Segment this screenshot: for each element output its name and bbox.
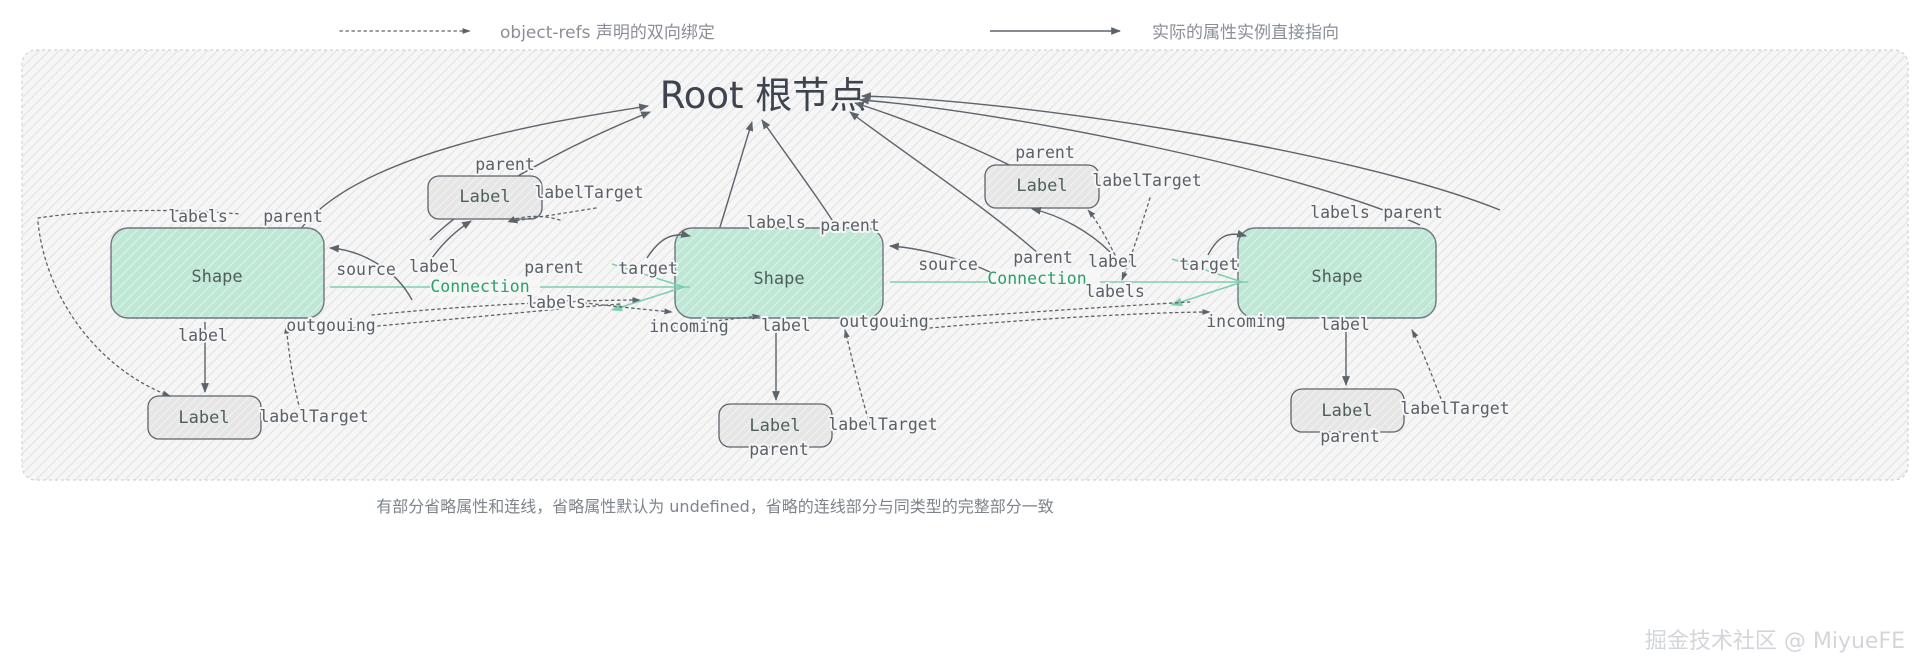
edge-label: labelTargetlabelTarget bbox=[1400, 399, 1509, 418]
node-label-top-right[interactable]: Label bbox=[985, 165, 1099, 208]
edge-label-text: parent bbox=[749, 440, 809, 459]
edge-label: parentparent bbox=[1320, 427, 1380, 446]
edge-label-text: labelTarget bbox=[259, 407, 368, 426]
edge-label-text: label bbox=[178, 326, 228, 345]
edge-label-text: incoming bbox=[1206, 312, 1285, 331]
node-shape-mid[interactable]: Shape bbox=[675, 228, 883, 318]
edge-label: parentparent bbox=[1013, 248, 1073, 267]
edge-label-text: parent bbox=[1013, 248, 1073, 267]
connection-right-name: Connection bbox=[987, 269, 1086, 288]
legend-dotted-label: object-refs 声明的双向绑定 bbox=[500, 23, 715, 43]
diagram-canvas: object-refs 声明的双向绑定 实际的属性实例直接指向 Root 根节点… bbox=[0, 0, 1930, 667]
edge-label: parentparent bbox=[475, 155, 535, 174]
label-bottom-left-text: Label bbox=[178, 408, 229, 428]
object-model-diagram: object-refs 声明的双向绑定 实际的属性实例直接指向 Root 根节点… bbox=[0, 0, 1930, 667]
edge-label-text: parent bbox=[1015, 143, 1075, 162]
node-shape-right[interactable]: Shape bbox=[1238, 228, 1436, 318]
edge-label: targettarget bbox=[1179, 255, 1239, 274]
edge-label: parentparent bbox=[1383, 203, 1443, 222]
edge-label: parentparent bbox=[1015, 143, 1075, 162]
edge-label-text: parent bbox=[1383, 203, 1443, 222]
edge-label-text: label bbox=[1320, 315, 1370, 334]
edge-label-text: labelTarget bbox=[534, 183, 643, 202]
edge-label: labelTargetlabelTarget bbox=[828, 415, 937, 434]
edge-label: labelTargetlabelTarget bbox=[534, 183, 643, 202]
edge-label-text: outgouing bbox=[839, 312, 928, 331]
edge-label-text: outgouing bbox=[286, 316, 375, 335]
node-label-bottom-right[interactable]: Label bbox=[1291, 389, 1404, 432]
edge-label-text: labelTarget bbox=[828, 415, 937, 434]
edge-label: labellabel bbox=[1320, 315, 1370, 334]
node-shape-left[interactable]: Shape bbox=[111, 228, 324, 318]
shape-left-label: Shape bbox=[191, 267, 242, 287]
edge-label: labellabel bbox=[178, 326, 228, 345]
page-title: Root 根节点 bbox=[660, 74, 867, 117]
diagram-caption: 有部分省略属性和连线，省略属性默认为 undefined，省略的连线部分与同类型… bbox=[376, 497, 1054, 516]
edge-label-text: target bbox=[1179, 255, 1239, 274]
shape-right-label: Shape bbox=[1311, 267, 1362, 287]
connection-left-name: Connection bbox=[430, 277, 529, 296]
edge-label: sourcesource bbox=[918, 255, 978, 274]
legend-solid-label: 实际的属性实例直接指向 bbox=[1152, 23, 1339, 43]
edge-label: labelslabels bbox=[746, 213, 806, 232]
edge-label: labelTargetlabelTarget bbox=[259, 407, 368, 426]
edge-label: incomingincoming bbox=[1206, 312, 1285, 331]
edge-label-text: label bbox=[761, 316, 811, 335]
edge-label: labelslabels bbox=[1310, 203, 1370, 222]
edge-label-text: label bbox=[409, 257, 459, 276]
edge-label-text: source bbox=[918, 255, 978, 274]
edge-label-text: target bbox=[618, 259, 678, 278]
edge-label: labellabel bbox=[409, 257, 459, 276]
watermark: 掘金技术社区 @ MiyueFE bbox=[1645, 629, 1905, 654]
node-label-bottom-left[interactable]: Label bbox=[148, 396, 261, 439]
edge-label-text: labels bbox=[746, 213, 806, 232]
edge-label-text: parent bbox=[1320, 427, 1380, 446]
edge-label: incomingincoming bbox=[649, 317, 728, 336]
edge-label: labelTargetlabelTarget bbox=[1092, 171, 1201, 190]
label-bottom-right-text: Label bbox=[1321, 401, 1372, 421]
edge-label-text: labels bbox=[526, 293, 586, 312]
edge-label: outgouingoutgouing bbox=[839, 312, 928, 331]
shape-mid-label: Shape bbox=[753, 269, 804, 289]
edge-label: labellabel bbox=[1088, 252, 1138, 271]
legend: object-refs 声明的双向绑定 实际的属性实例直接指向 bbox=[340, 23, 1339, 43]
edge-label-text: labelTarget bbox=[1092, 171, 1201, 190]
edge-label: labelslabels bbox=[1085, 282, 1145, 301]
edge-label-text: labels bbox=[1085, 282, 1145, 301]
edge-label-text: parent bbox=[475, 155, 535, 174]
edge-label-text: parent bbox=[820, 216, 880, 235]
edge-label-text: parent bbox=[263, 207, 323, 226]
edge-label: parentparent bbox=[524, 258, 584, 277]
edge-label-text: label bbox=[1088, 252, 1138, 271]
edge-label: outgouingoutgouing bbox=[286, 316, 375, 335]
edge-label: sourcesource bbox=[336, 260, 396, 279]
edge-label-text: labels bbox=[168, 207, 228, 226]
edge-label-text: parent bbox=[524, 258, 584, 277]
edge-label: parentparent bbox=[263, 207, 323, 226]
edge-label-text: labels bbox=[1310, 203, 1370, 222]
edge-label: labelslabels bbox=[526, 293, 586, 312]
edge-label-text: incoming bbox=[649, 317, 728, 336]
node-label-top-left[interactable]: Label bbox=[428, 176, 542, 219]
edge-label: labelslabels bbox=[168, 207, 228, 226]
edge-label: targettarget bbox=[618, 259, 678, 278]
edge-label-text: source bbox=[336, 260, 396, 279]
edge-label: parentparent bbox=[820, 216, 880, 235]
label-top-left-text: Label bbox=[459, 187, 510, 207]
edge-label: parentparent bbox=[749, 440, 809, 459]
edge-label: labellabel bbox=[761, 316, 811, 335]
label-bottom-mid-text: Label bbox=[749, 416, 800, 436]
edge-label-text: labelTarget bbox=[1400, 399, 1509, 418]
label-top-right-text: Label bbox=[1016, 176, 1067, 196]
